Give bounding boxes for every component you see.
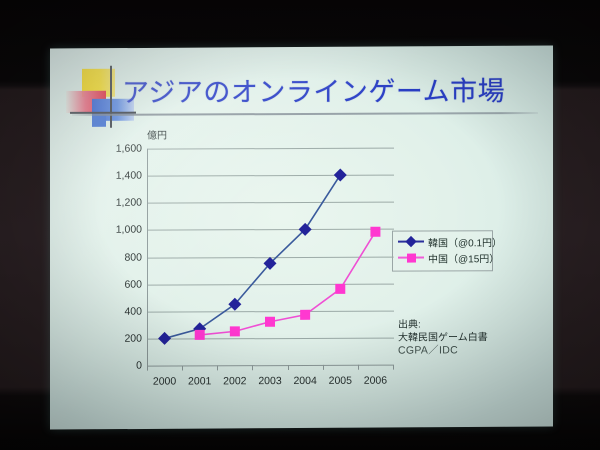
series-line <box>165 175 341 338</box>
source-line-1: 出典: <box>398 318 488 331</box>
diamond-marker-icon <box>405 236 416 247</box>
data-point-square <box>300 310 310 320</box>
square-marker-icon <box>407 254 416 263</box>
presentation-slide: アジアのオンラインゲーム市場 億円 02004006008001,0001,20… <box>50 45 553 429</box>
source-line-2: 大韓民国ゲーム白書 <box>398 331 488 344</box>
data-point-square <box>195 330 205 340</box>
source-line-3: CGPA／IDC <box>398 344 488 357</box>
data-point-diamond <box>334 168 347 181</box>
legend-item-korea: 韓国（@0.1円） <box>398 233 502 249</box>
legend-line-korea <box>398 241 424 243</box>
legend-line-china <box>398 257 424 259</box>
data-point-square <box>370 227 380 237</box>
source-note: 出典: 大韓民国ゲーム白書 CGPA／IDC <box>398 318 488 357</box>
line-chart: 億円 02004006008001,0001,2001,4001,600 200… <box>50 46 553 429</box>
data-point-square <box>265 317 275 327</box>
data-point-square <box>335 284 345 294</box>
data-point-diamond <box>158 332 171 345</box>
legend-label-china: 中国（@15円） <box>428 250 499 265</box>
data-point-square <box>230 326 240 336</box>
legend-label-korea: 韓国（@0.1円） <box>428 234 502 249</box>
chart-legend: 韓国（@0.1円） 中国（@15円） <box>392 230 493 271</box>
projected-slide-photo: アジアのオンラインゲーム市場 億円 02004006008001,0001,20… <box>0 0 600 450</box>
legend-item-china: 中国（@15円） <box>398 249 499 265</box>
